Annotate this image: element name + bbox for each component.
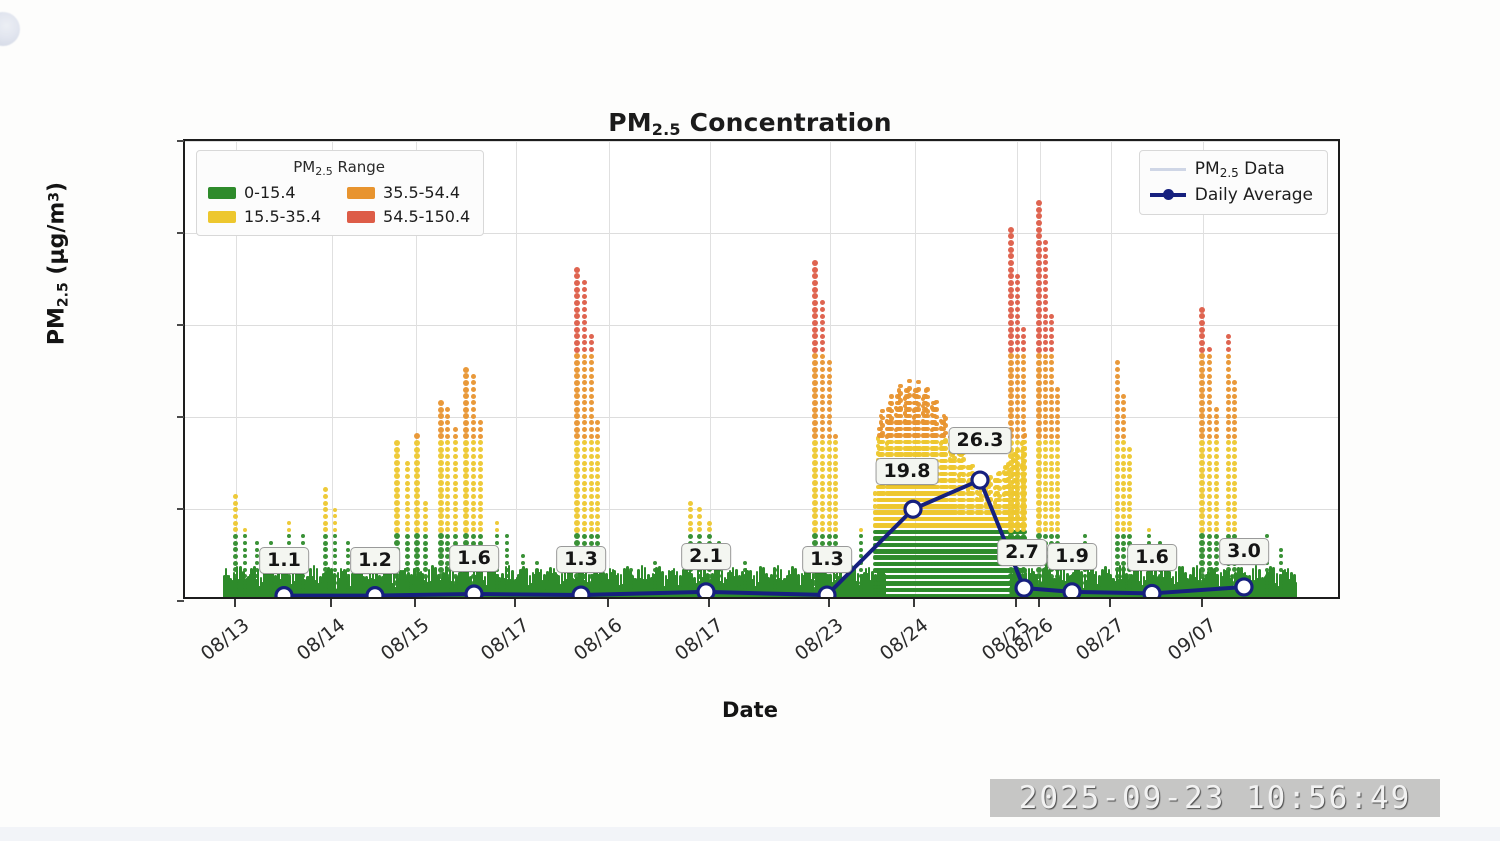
x-tick-mark-0 — [234, 599, 236, 607]
x-tick-label-08-16-4: 08/16 — [526, 614, 626, 699]
legend-range-item-label: 54.5-150.4 — [383, 207, 470, 226]
x-tick-label-08-17-5: 08/17 — [627, 614, 727, 699]
x-tick-label-08-24-7: 08/24 — [832, 614, 932, 699]
legend-range-title: PM2.5 Range — [208, 158, 470, 178]
legend-range-title-main: PM — [293, 158, 315, 176]
plot-inner: 1.11.21.61.32.11.319.826.32.71.91.63.0 P… — [185, 141, 1338, 597]
x-tick-mark-7 — [913, 599, 915, 607]
legend-item-daily-average[interactable]: Daily Average — [1150, 185, 1313, 205]
daily-average-value-label: 1.6 — [1127, 544, 1177, 571]
legend-item-pm25-data-label: PM2.5 Data — [1195, 159, 1285, 180]
y-axis-label-unit: (μg/m — [45, 202, 70, 283]
line-marker-swatch-icon — [1150, 193, 1186, 197]
y-tick-mark-60 — [177, 324, 184, 326]
chart-title-subscript: 2.5 — [652, 120, 681, 139]
legend-series: PM2.5 Data Daily Average — [1139, 150, 1328, 215]
y-axis-label-close: ) — [45, 182, 70, 192]
daily-average-value-label: 3.0 — [1219, 538, 1269, 565]
legend-range-item-15.5-35.4[interactable]: 15.5-35.4 — [208, 207, 321, 226]
timestamp-overlay: 2025-09-23 10:56:49 — [990, 779, 1440, 817]
daily-average-marker-9 — [1064, 584, 1080, 597]
legend-range-title-rest: Range — [333, 158, 385, 176]
x-tick-mark-5 — [708, 599, 710, 607]
daily-average-value-label: 1.2 — [350, 547, 400, 574]
x-tick-label-08-17-3: 08/17 — [433, 614, 533, 699]
legend-range-item-label: 0-15.4 — [244, 183, 296, 202]
color-swatch-icon — [347, 187, 375, 199]
x-tick-mark-9 — [1038, 599, 1040, 607]
y-tick-mark-100 — [177, 140, 184, 142]
legend-range-title-subscript: 2.5 — [315, 165, 333, 178]
legend-range-item-54.5-150.4[interactable]: 54.5-150.4 — [347, 207, 470, 226]
x-tick-mark-4 — [607, 599, 609, 607]
daily-average-value-label: 2.7 — [997, 539, 1047, 566]
daily-average-value-label: 1.1 — [259, 547, 309, 574]
daily-average-marker-10 — [1144, 585, 1160, 597]
y-tick-mark-40 — [177, 416, 184, 418]
y-axis-label-superscript: 3 — [47, 192, 63, 202]
legend-range-items: 0-15.435.5-54.415.5-35.454.5-150.4 — [208, 183, 470, 226]
color-swatch-icon — [208, 211, 236, 223]
legend-range-item-label: 15.5-35.4 — [244, 207, 321, 226]
legend-item-daily-average-label: Daily Average — [1195, 185, 1313, 205]
color-swatch-icon — [208, 187, 236, 199]
daily-average-value-label: 1.3 — [802, 546, 852, 573]
x-tick-label-08-23-6: 08/23 — [747, 614, 847, 699]
y-tick-mark-80 — [177, 232, 184, 234]
chart-title-rest: Concentration — [681, 108, 892, 137]
x-axis-label: Date — [0, 698, 1500, 722]
daily-average-value-label: 2.1 — [681, 543, 731, 570]
x-tick-mark-3 — [514, 599, 516, 607]
x-tick-mark-8 — [1015, 599, 1017, 607]
daily-average-marker-4 — [698, 584, 714, 597]
daily-average-value-label: 1.6 — [449, 545, 499, 572]
y-axis-label-main: PM — [45, 307, 70, 345]
y-axis-label-subscript: 2.5 — [56, 282, 72, 307]
x-tick-label-08-14-1: 08/14 — [249, 614, 349, 699]
daily-average-value-label: 1.9 — [1047, 543, 1097, 570]
screenshot-canvas: PM2.5 Concentration PM2.5 (μg/m3) Date 1… — [0, 0, 1500, 841]
x-tick-mark-11 — [1201, 599, 1203, 607]
x-tick-label-08-15-2: 08/15 — [333, 614, 433, 699]
legend-item-pm25-data[interactable]: PM2.5 Data — [1150, 159, 1313, 180]
x-tick-mark-10 — [1109, 599, 1111, 607]
chart-title-main: PM — [608, 108, 652, 137]
daily-average-value-label: 26.3 — [949, 427, 1012, 454]
daily-average-marker-0 — [276, 588, 292, 597]
chart-title: PM2.5 Concentration — [0, 108, 1500, 139]
x-tick-label-08-13-0: 08/13 — [153, 614, 253, 699]
daily-average-marker-2 — [466, 586, 482, 597]
daily-average-marker-11 — [1236, 579, 1252, 595]
daily-average-value-label: 19.8 — [876, 458, 939, 485]
legend-pm25-range: PM2.5 Range 0-15.435.5-54.415.5-35.454.5… — [196, 150, 484, 236]
x-tick-mark-1 — [330, 599, 332, 607]
legend-range-item-0-15.4[interactable]: 0-15.4 — [208, 183, 321, 202]
x-tick-mark-6 — [828, 599, 830, 607]
daily-average-marker-5 — [819, 587, 835, 597]
legend-range-item-35.5-54.4[interactable]: 35.5-54.4 — [347, 183, 470, 202]
daily-average-marker-3 — [573, 587, 589, 597]
pm25-chart-figure: PM2.5 Concentration PM2.5 (μg/m3) Date 1… — [0, 0, 1500, 790]
daily-average-value-label: 1.3 — [556, 546, 606, 573]
y-axis-label: PM2.5 (μg/m3) — [45, 94, 72, 434]
daily-average-marker-6 — [905, 501, 921, 517]
daily-average-marker-8 — [1016, 580, 1032, 596]
plot-area: 1.11.21.61.32.11.319.826.32.71.91.63.0 P… — [183, 139, 1340, 599]
color-swatch-icon — [347, 211, 375, 223]
line-swatch-icon — [1150, 168, 1186, 171]
daily-average-marker-1 — [367, 588, 383, 597]
y-tick-mark-20 — [177, 508, 184, 510]
bottom-strip — [0, 827, 1500, 841]
x-tick-mark-2 — [414, 599, 416, 607]
daily-average-marker-7 — [972, 472, 988, 488]
x-tick-label-09-07-11: 09/07 — [1120, 614, 1220, 699]
legend-range-item-label: 35.5-54.4 — [383, 183, 460, 202]
y-tick-mark-0 — [177, 600, 184, 602]
